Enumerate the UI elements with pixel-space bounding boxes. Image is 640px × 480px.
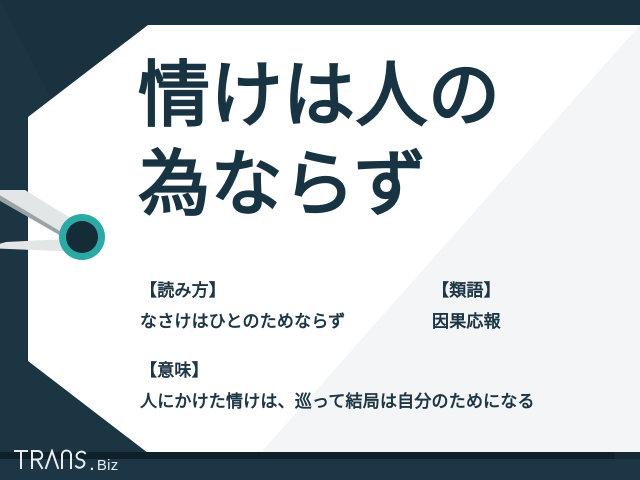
eyelet-ring-icon <box>59 214 105 260</box>
brand-logo[interactable]: . Biz <box>14 449 119 474</box>
logo-dot: . <box>89 453 95 474</box>
logo-wordmark-trans-icon <box>14 449 88 470</box>
bottom-rule-notch <box>614 452 640 459</box>
field-synonym-label: 【類語】 <box>432 278 622 304</box>
field-meaning-label: 【意味】 <box>140 358 630 384</box>
field-reading-label: 【読み方】 <box>140 278 420 304</box>
proverb-card: 情けは人の 為ならず 【読み方】 なさけはひとのためならず 【類語】 因果応報 … <box>0 0 640 480</box>
field-synonym-value: 因果応報 <box>432 309 622 335</box>
field-synonym: 【類語】 因果応報 <box>432 278 622 334</box>
proverb-headline: 情けは人の 為ならず <box>138 52 618 231</box>
eyelet-hole-icon <box>66 221 98 253</box>
field-reading: 【読み方】 なさけはひとのためならず <box>140 278 420 334</box>
field-meaning-value: 人にかけた情けは、巡って結局は自分のためになる <box>140 389 630 415</box>
field-meaning: 【意味】 人にかけた情けは、巡って結局は自分のためになる <box>140 358 630 414</box>
logo-suffix: Biz <box>97 458 119 473</box>
field-reading-value: なさけはひとのためならず <box>140 309 420 335</box>
